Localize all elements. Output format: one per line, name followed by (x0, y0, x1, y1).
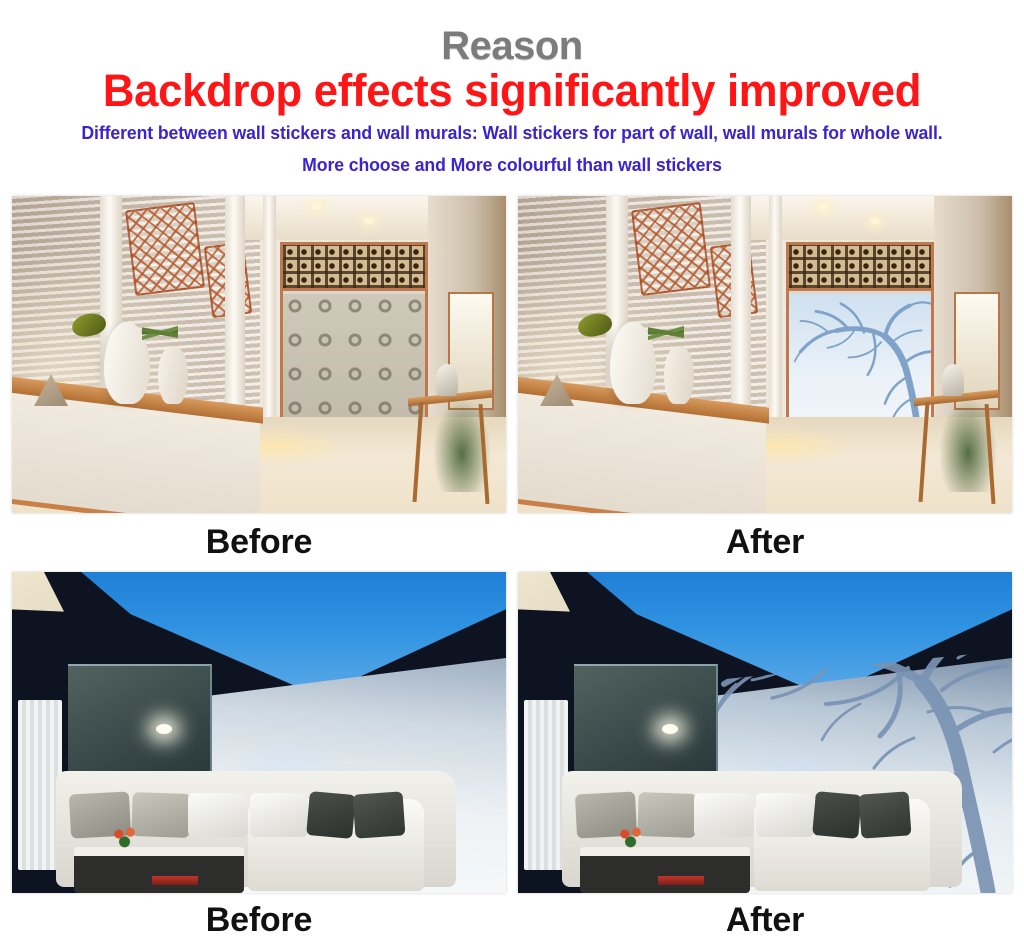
caption-before: Before (12, 513, 506, 559)
ceiling-spotlight-icon (364, 218, 374, 224)
comparison-row-hallway: Before (0, 196, 1024, 559)
downlight-icon (662, 724, 678, 734)
subtitle-line-1: Different between wall stickers and wall… (10, 121, 1014, 147)
flower-vase (108, 825, 144, 855)
wall-lattice-ornament (631, 202, 711, 296)
cushion (188, 793, 248, 837)
flower-vase (614, 825, 650, 855)
coffee-table (74, 847, 244, 893)
book-on-table (658, 876, 704, 885)
plant-leaves (648, 304, 684, 360)
hallway-after-photo (518, 196, 1012, 513)
hallway-before-photo (12, 196, 506, 513)
cushion (250, 793, 308, 837)
coffee-table (580, 847, 750, 893)
decorative-grille (789, 245, 931, 291)
plant-leaves (142, 304, 178, 360)
decorative-grille (283, 245, 425, 291)
subtitle-line-2: More choose and More colourful than wall… (10, 153, 1014, 179)
eyebrow-heading: Reason (0, 26, 1024, 66)
cushion (306, 791, 356, 839)
living-room-after-cell: After (518, 572, 1012, 937)
wall-lattice-ornament (125, 202, 205, 296)
page-title: Backdrop effects significantly improved (15, 68, 1008, 114)
downlight-icon (156, 724, 172, 734)
hallway-after-cell: After (518, 196, 1012, 559)
caption-after: After (518, 893, 1012, 937)
comparison-row-living-room: Before (0, 572, 1024, 937)
comparison-grid: Before (0, 196, 1024, 937)
cushion (694, 793, 754, 837)
ceiling-spotlight-icon (870, 218, 880, 224)
caption-after: After (518, 513, 1012, 559)
living-room-after-photo (518, 572, 1012, 893)
table-figurine (942, 364, 964, 396)
hallway-before-cell: Before (12, 196, 506, 559)
living-room-before-cell: Before (12, 572, 506, 937)
page-header: Reason Backdrop effects significantly im… (0, 0, 1024, 179)
book-on-table (152, 876, 198, 885)
cushion (859, 791, 912, 838)
table-figurine (436, 364, 458, 396)
caption-before: Before (12, 893, 506, 937)
ceiling-spotlight-icon (312, 204, 322, 210)
living-room-before-photo (12, 572, 506, 893)
cushion (812, 791, 862, 839)
cushion (756, 793, 814, 837)
cushion (353, 791, 406, 838)
ceiling-spotlight-icon (818, 204, 828, 210)
